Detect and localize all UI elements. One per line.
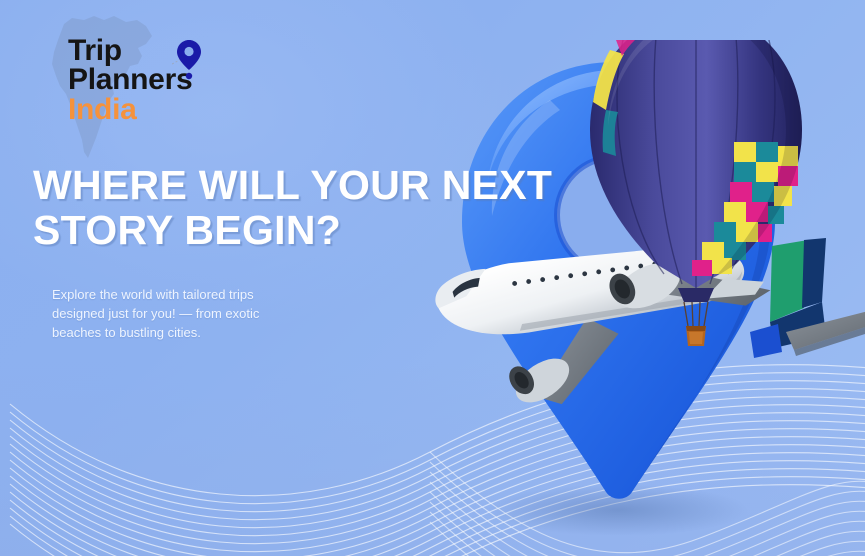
hero-artwork	[400, 40, 865, 556]
airplane-tail-graphic	[750, 238, 865, 358]
headline-line-2: STORY BEGIN?	[33, 208, 573, 253]
hero-banner: Trip Planners India WHERE WILL YOUR NEXT…	[0, 0, 865, 556]
headline-line-1: WHERE WILL YOUR NEXT	[33, 163, 573, 208]
map-pin-icon	[172, 38, 206, 82]
brand-line-india: India	[68, 95, 288, 124]
page-title: WHERE WILL YOUR NEXT STORY BEGIN?	[33, 163, 573, 253]
location-pin-3d	[462, 62, 775, 499]
hero-subcopy: Explore the world with tailored trips de…	[52, 286, 297, 343]
background-glow-bottom-right	[389, 306, 865, 556]
hot-air-balloon-graphic	[590, 40, 802, 346]
background-glow-bottom	[0, 361, 865, 556]
brand-logo[interactable]: Trip Planners India	[68, 36, 288, 124]
